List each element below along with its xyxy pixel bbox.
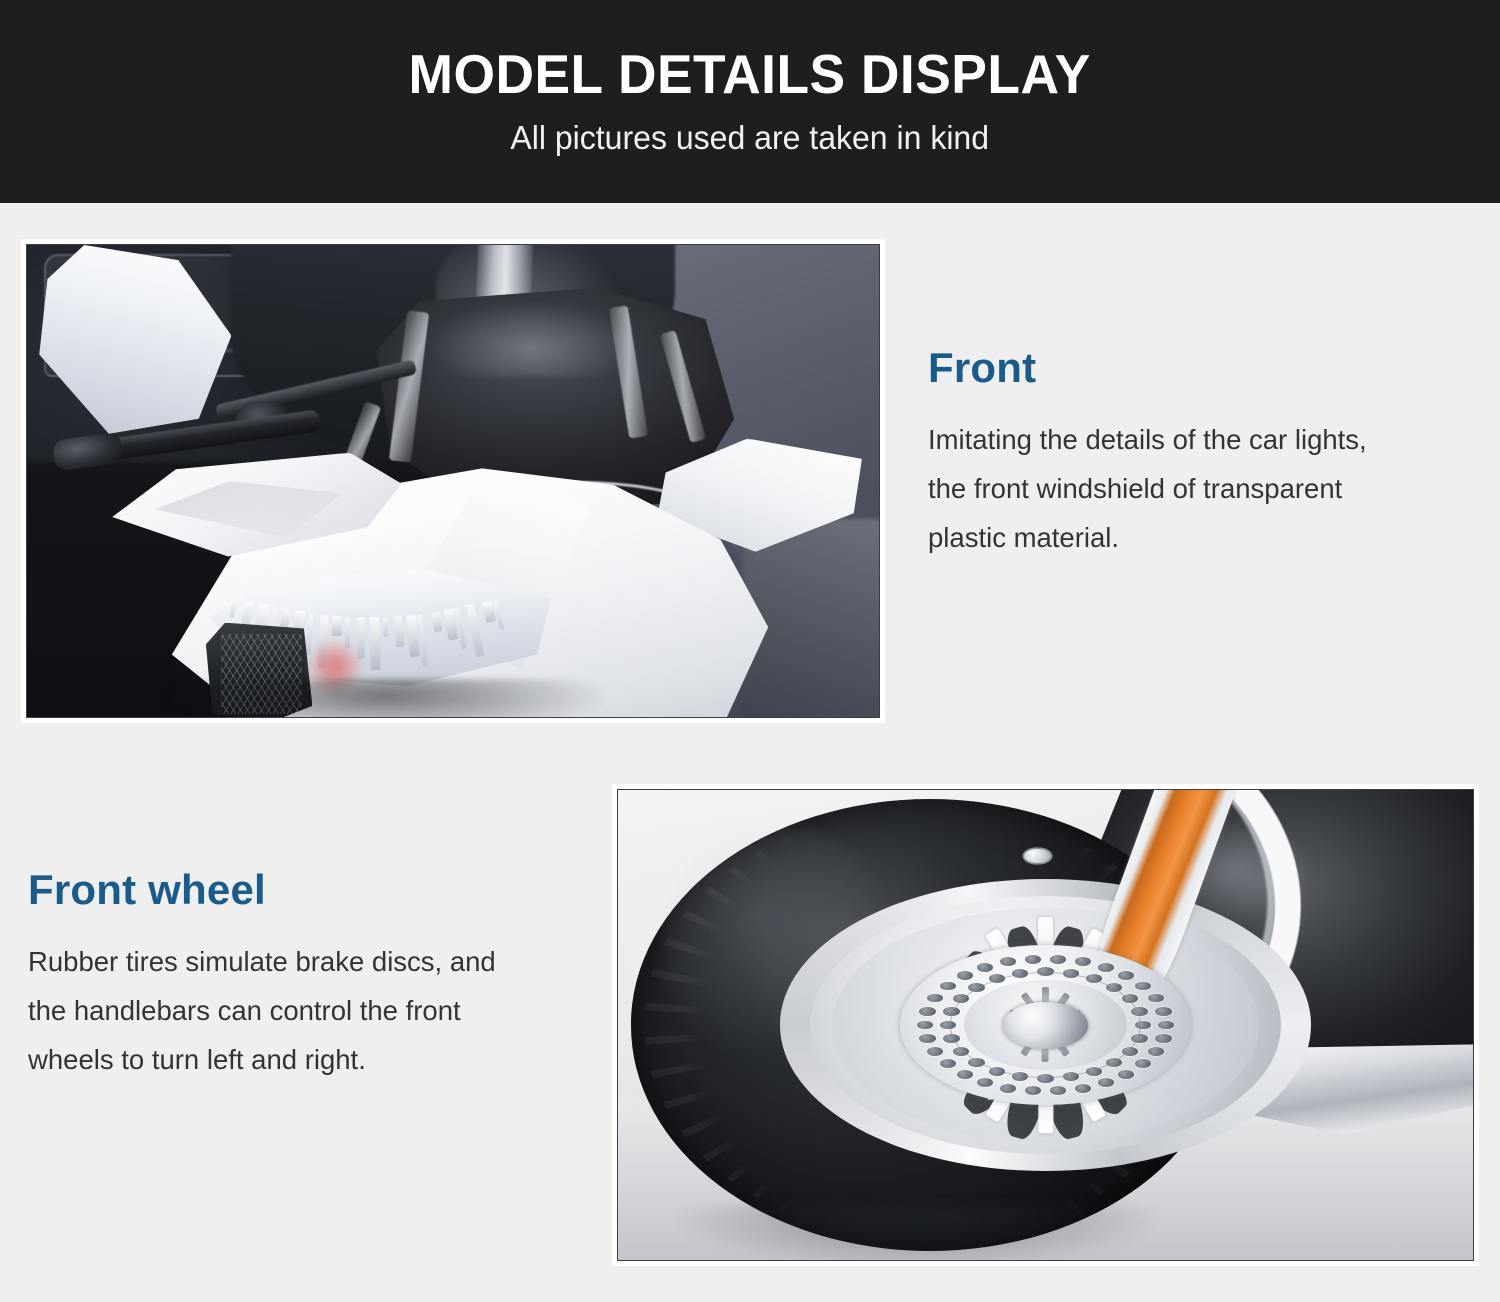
front-fairing-photo-frame bbox=[26, 244, 880, 718]
front-heading: Front bbox=[928, 346, 1476, 390]
front-wheel-description: Rubber tires simulate brake discs, and t… bbox=[28, 938, 608, 1085]
instrument-pod-glare bbox=[427, 302, 631, 378]
front-wheel-text-block: Front wheel Rubber tires simulate brake … bbox=[28, 868, 608, 1085]
page-title: MODEL DETAILS DISPLAY bbox=[409, 46, 1091, 104]
nose-ground-shadow bbox=[163, 679, 606, 718]
front-description-line: Imitating the details of the car lights, bbox=[928, 416, 1476, 465]
wheel-hub-nut bbox=[1003, 1002, 1089, 1049]
product-detail-page: MODEL DETAILS DISPLAY All pictures used … bbox=[0, 0, 1500, 1302]
front-wheel-description-line: wheels to turn left and right. bbox=[28, 1036, 608, 1085]
front-text-block: Front Imitating the details of the car l… bbox=[928, 346, 1476, 563]
front-fairing-illustration bbox=[27, 245, 879, 717]
front-wheel-heading: Front wheel bbox=[28, 868, 608, 912]
tire-contact-shadow bbox=[669, 1204, 1165, 1261]
front-wheel-illustration bbox=[618, 790, 1473, 1260]
front-description-line: the front windshield of transparent bbox=[928, 465, 1476, 514]
fork-bolt bbox=[1024, 849, 1051, 864]
front-wheel-photo bbox=[613, 785, 1478, 1265]
front-wheel-description-line: Rubber tires simulate brake discs, and bbox=[28, 938, 608, 987]
front-description: Imitating the details of the car lights,… bbox=[928, 416, 1476, 563]
front-description-line: plastic material. bbox=[928, 514, 1476, 563]
front-fairing-photo bbox=[22, 240, 884, 722]
front-wheel-photo-frame bbox=[617, 789, 1474, 1261]
front-wheel-description-line: the handlebars can control the front bbox=[28, 987, 608, 1036]
header-banner: MODEL DETAILS DISPLAY All pictures used … bbox=[0, 0, 1500, 203]
page-subtitle: All pictures used are taken in kind bbox=[511, 119, 990, 157]
